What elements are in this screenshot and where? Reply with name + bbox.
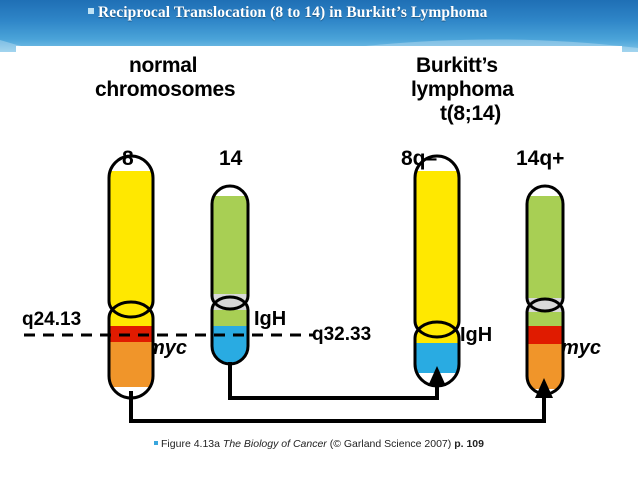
caption-page: p. 109: [454, 438, 484, 450]
translocation-arrow-14-to-8: [230, 362, 437, 398]
caption-bullet-icon: [154, 441, 158, 445]
slide-title: Reciprocal Translocation (8 to 14) in Bu…: [88, 4, 608, 22]
slide: Reciprocal Translocation (8 to 14) in Bu…: [0, 0, 638, 479]
figure-area: normal chromosomes Burkitt’s lymphoma t(…: [16, 46, 622, 466]
figure-caption: Figure 4.13a The Biology of Cancer (© Ga…: [16, 438, 622, 450]
caption-credit: (© Garland Science 2007): [330, 438, 452, 450]
chromosome-14-normal: [209, 186, 253, 366]
caption-book-title: The Biology of Cancer: [223, 438, 327, 450]
slide-title-text: Reciprocal Translocation (8 to 14) in Bu…: [98, 4, 488, 21]
chromosome-14q-plus: [524, 186, 568, 394]
chromosome-8-normal: [106, 156, 158, 398]
caption-figure-number: Figure 4.13a: [161, 438, 220, 450]
chromosome-8q-minus: [412, 156, 464, 386]
translocation-arrow-8-to-14: [131, 391, 544, 421]
title-bullet-icon: [88, 8, 94, 14]
chromosome-diagram: [16, 46, 622, 446]
